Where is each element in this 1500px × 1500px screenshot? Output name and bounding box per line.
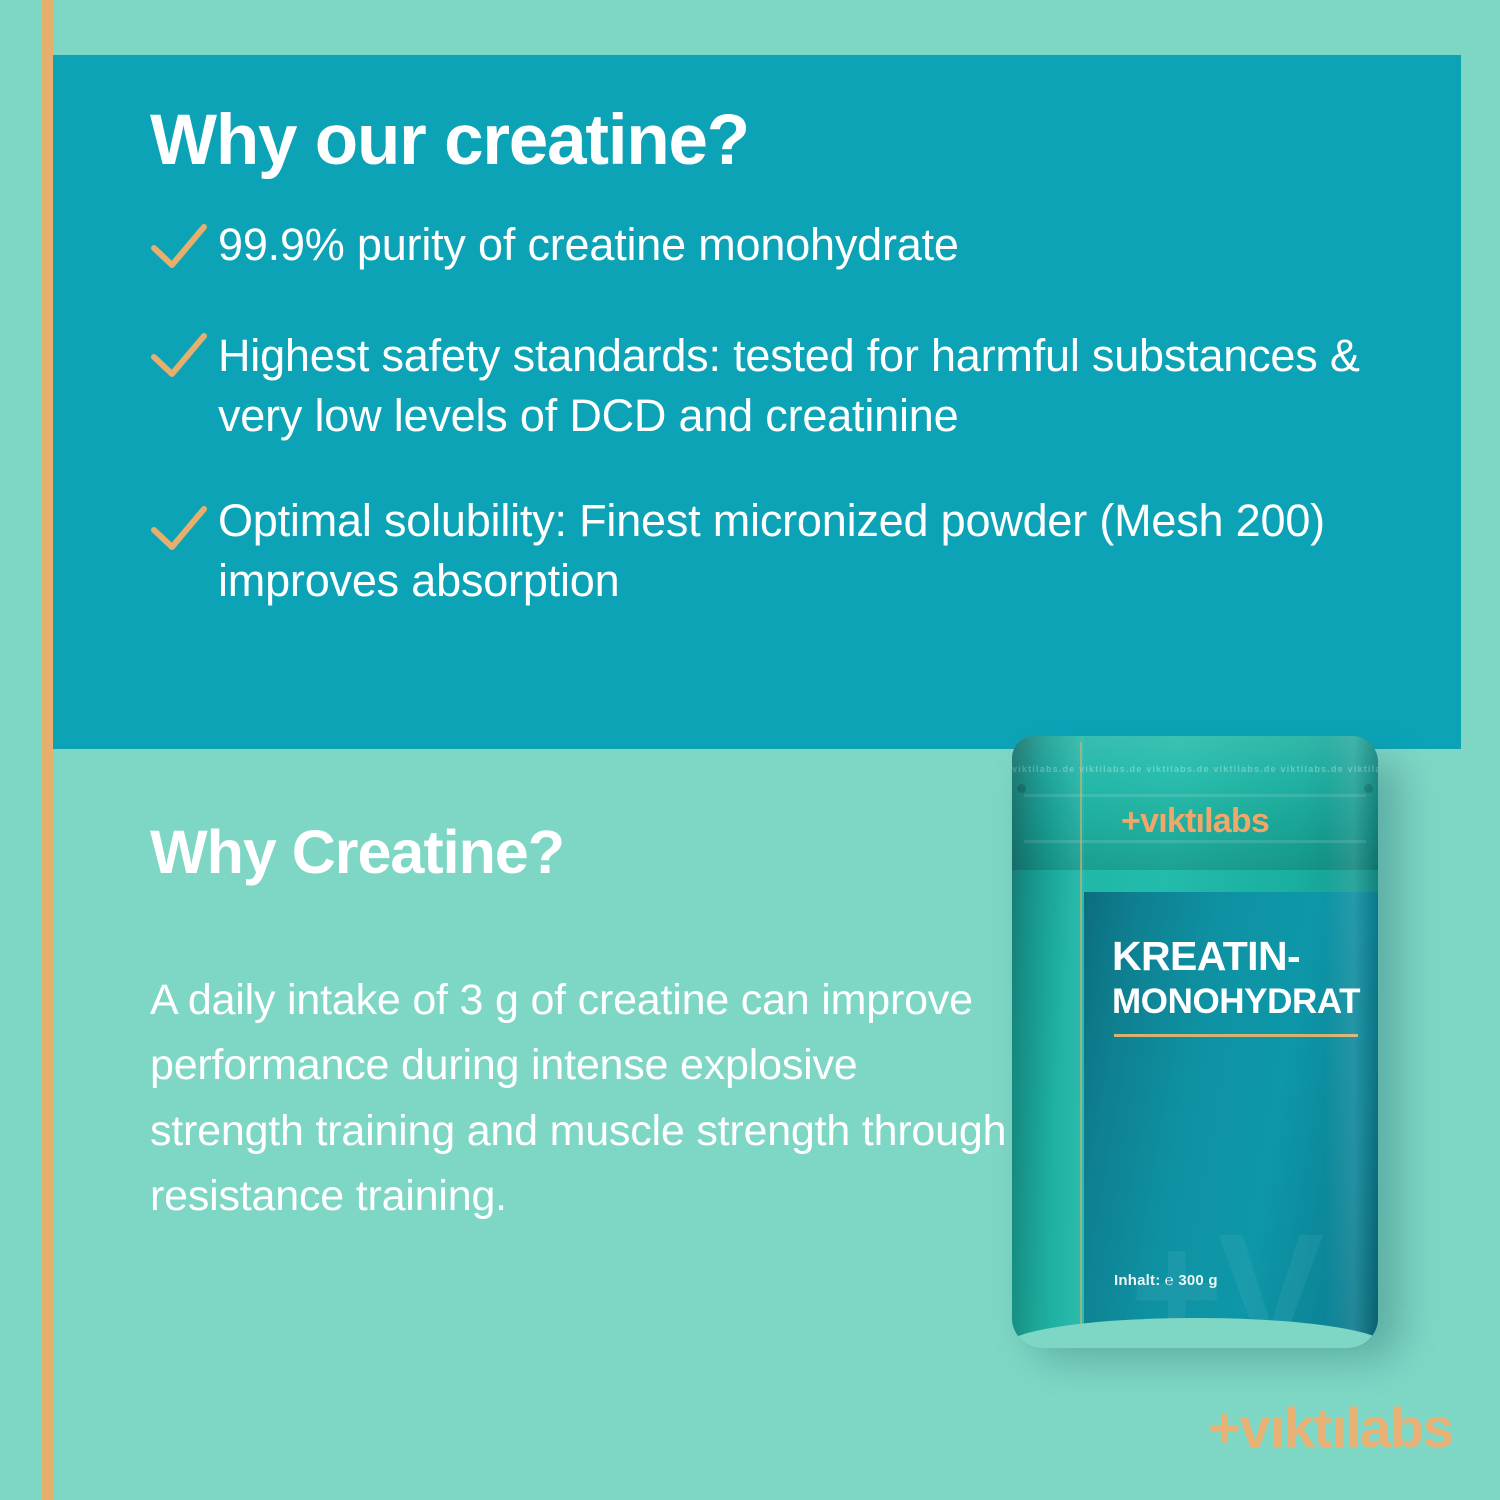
pouch-gusset-shading bbox=[1012, 736, 1084, 1348]
check-icon bbox=[150, 223, 208, 271]
title-underline bbox=[1114, 1034, 1358, 1037]
product-title-line2: MONOHYDRAT bbox=[1112, 984, 1360, 1019]
list-item: Highest safety standards: tested for har… bbox=[98, 326, 1438, 445]
product-title-line1: KREATIN- bbox=[1112, 936, 1300, 977]
brand-lockup-logo: +vıktılabs bbox=[1208, 1400, 1453, 1456]
pouch-gusset-foldline bbox=[1080, 742, 1082, 1342]
pouch-body: viktilabs.de viktilabs.de viktilabs.de v… bbox=[1012, 736, 1378, 1348]
product-pouch: viktilabs.de viktilabs.de viktilabs.de v… bbox=[1012, 736, 1412, 1356]
bullet-text: Highest safety standards: tested for har… bbox=[218, 330, 1360, 440]
list-item: Optimal solubility: Finest micronized po… bbox=[98, 491, 1438, 610]
pouch-edge-gloss bbox=[1324, 736, 1378, 1348]
gold-vertical-rule bbox=[42, 0, 53, 1500]
feature-bullet-list: 99.9% purity of creatine monohydrate Hig… bbox=[98, 215, 1438, 610]
bullet-text: Optimal solubility: Finest micronized po… bbox=[218, 495, 1325, 605]
bullet-text: 99.9% purity of creatine monohydrate bbox=[218, 219, 959, 270]
top-headline: Why our creatine? bbox=[150, 105, 749, 176]
infographic-canvas: Why our creatine? 99.9% purity of creati… bbox=[0, 0, 1500, 1500]
list-item: 99.9% purity of creatine monohydrate bbox=[98, 215, 1438, 274]
bottom-body-text: A daily intake of 3 g of creatine can im… bbox=[150, 968, 1010, 1229]
top-section: Why our creatine? 99.9% purity of creati… bbox=[53, 55, 1461, 749]
check-icon bbox=[150, 505, 208, 553]
bottom-headline: Why Creatine? bbox=[150, 822, 564, 883]
check-icon bbox=[150, 332, 208, 380]
net-weight-label: Inhalt: ℮ 300 g bbox=[1114, 1272, 1218, 1289]
